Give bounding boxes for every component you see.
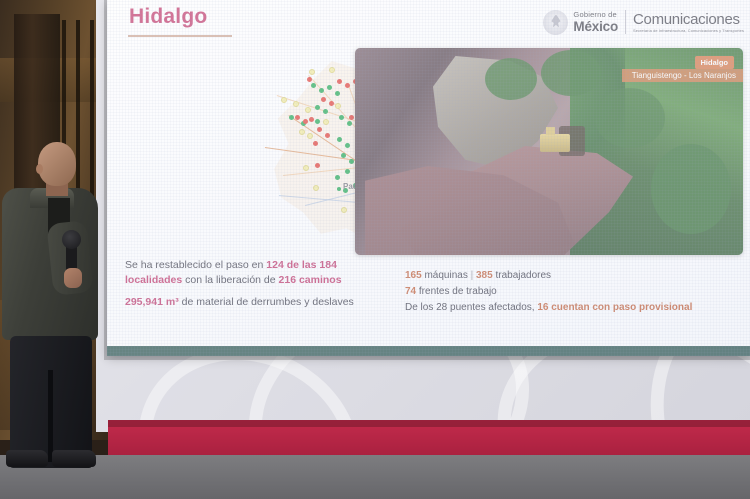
map-dot — [317, 127, 322, 132]
restored-prefix: Se ha restablecido el paso en — [125, 259, 266, 271]
stats-right-line2: 74 frentes de trabajo — [405, 284, 745, 300]
photo-caption: Tianguistengo - Los Naranjos — [622, 69, 743, 82]
map-dot — [329, 67, 335, 73]
map-dot — [311, 83, 316, 88]
speaker-leg-gap — [48, 370, 53, 462]
header-divider — [625, 10, 626, 34]
map-dot — [307, 133, 313, 139]
map-dot — [289, 115, 294, 120]
press-conference-scene: Hidalgo Gobierno de México Comunicacione… — [0, 0, 750, 499]
map-dot — [323, 109, 328, 114]
speaker-ear — [36, 164, 43, 174]
restored-roads: 216 caminos — [279, 274, 342, 286]
map-dot — [345, 83, 350, 88]
projection-screen: Hidalgo Gobierno de México Comunicacione… — [107, 0, 750, 356]
agency-logo: Comunicaciones Secretaría de Infraestruc… — [633, 12, 744, 33]
map-dot — [299, 129, 305, 135]
stats-right-line3: De los 28 puentes afectados, 16 cuentan … — [405, 300, 745, 316]
speaker-shoe-left — [6, 450, 48, 467]
government-header: Gobierno de México Comunicaciones Secret… — [543, 7, 744, 37]
map-dot — [309, 117, 314, 122]
debris-volume: 295,941 m³ — [125, 296, 179, 308]
map-dot — [321, 97, 326, 102]
speaker-hand — [64, 268, 82, 288]
map-dot — [309, 69, 315, 75]
map-dot — [337, 137, 342, 142]
map-dot — [303, 119, 308, 124]
stats-separator: | — [471, 270, 474, 281]
map-dot — [347, 121, 352, 126]
bridges-prefix: De los 28 puentes afectados, — [405, 302, 537, 313]
map-dot — [307, 77, 312, 82]
map-dot — [325, 133, 330, 138]
stats-left-line1: Se ha restablecido el paso en 124 de las… — [125, 258, 370, 287]
photo-bush — [595, 88, 665, 148]
stage-band-shadow — [108, 420, 750, 427]
stage-floor — [0, 455, 750, 499]
map-dot — [303, 165, 309, 171]
restored-middle: con la liberación de — [182, 274, 278, 286]
worksites-label: frentes de trabajo — [416, 286, 497, 297]
agency-subtitle: Secretaría de Infraestructura, Comunicac… — [633, 29, 744, 33]
map-dot — [329, 101, 334, 106]
map-dot — [319, 88, 324, 93]
map-dot — [341, 207, 347, 213]
map-dot — [305, 107, 311, 113]
mexico-label: México — [573, 20, 618, 34]
photo-machinery — [540, 134, 570, 152]
gobierno-de-label: Gobierno de — [573, 11, 618, 19]
machines-label: máquinas — [422, 270, 468, 281]
bridges-provisional: 16 cuentan con paso provisional — [537, 302, 692, 313]
map-dot — [315, 119, 320, 124]
photo-bush — [651, 144, 731, 234]
map-dot — [345, 143, 350, 148]
workers-label: trabajadores — [493, 270, 551, 281]
workers-count: 385 — [476, 270, 493, 281]
pachuca-marker — [337, 187, 341, 191]
title-underline — [128, 35, 232, 37]
machines-count: 165 — [405, 270, 422, 281]
map-dot — [315, 105, 320, 110]
map-dot — [295, 115, 300, 120]
stats-left-line2: 295,941 m³ de material de derrumbes y de… — [125, 295, 370, 310]
page-title: Hidalgo — [129, 6, 207, 27]
map-dot — [337, 79, 342, 84]
stats-right-line1: 165 máquinas | 385 trabajadores — [405, 268, 745, 284]
agency-name: Comunicaciones — [633, 12, 744, 27]
microphone-head-icon — [62, 230, 81, 249]
map-dot — [313, 141, 318, 146]
photo-state-badge: Hidalgo — [695, 56, 735, 69]
map-dot — [335, 175, 340, 180]
slide-footer-bar — [107, 346, 750, 356]
map-dot — [323, 119, 329, 125]
map-dot — [349, 159, 354, 164]
map-dot — [335, 91, 340, 96]
map-dot — [349, 115, 354, 120]
photo-bush — [541, 50, 601, 96]
map-dot — [335, 103, 341, 109]
map-dot — [281, 97, 287, 103]
speaker-shoe-right — [52, 450, 96, 467]
speaker-head — [38, 142, 76, 186]
speaker — [0, 140, 120, 460]
map-dot — [315, 163, 320, 168]
map-dot — [313, 185, 319, 191]
map-dot — [339, 115, 344, 120]
slide: Hidalgo Gobierno de México Comunicacione… — [107, 0, 750, 356]
map-dot — [327, 85, 332, 90]
map-dot — [345, 169, 350, 174]
stats-right: 165 máquinas | 385 trabajadores 74 frent… — [405, 268, 745, 316]
gobierno-de-mexico-logo: Gobierno de México — [573, 11, 618, 33]
debris-label: de material de derrumbes y deslaves — [179, 296, 354, 308]
stats-left: Se ha restablecido el paso en 124 de las… — [125, 258, 370, 310]
field-photo: Hidalgo Tianguistengo - Los Naranjos — [355, 48, 743, 255]
photo-bush — [485, 58, 537, 100]
worksites-count: 74 — [405, 286, 416, 297]
map-dot — [341, 153, 346, 158]
map-dot — [293, 101, 299, 107]
mexican-eagle-seal-icon — [543, 10, 568, 35]
